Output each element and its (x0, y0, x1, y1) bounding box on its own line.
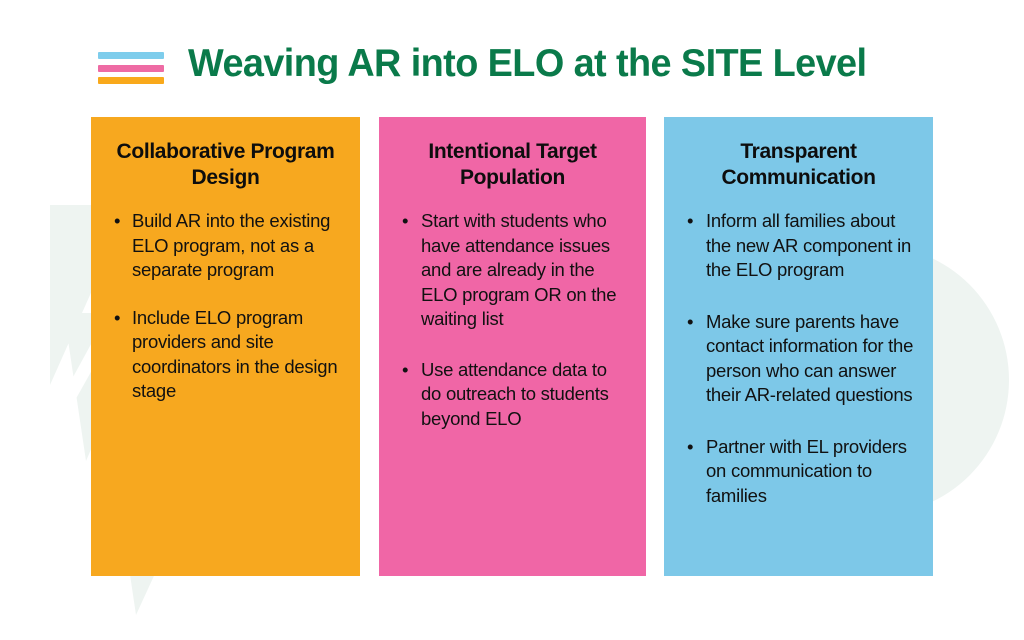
card-bullet-text: Inform all families about the new AR com… (706, 210, 911, 280)
cards-row: Collaborative Program Design •Build AR i… (0, 117, 1024, 576)
card-title: Collaborative Program Design (107, 139, 344, 191)
card-bullet-text: Make sure parents have contact informati… (706, 311, 913, 406)
bullet-icon: • (114, 209, 120, 234)
card-bullet-item: •Use attendance data to do outreach to s… (395, 358, 630, 432)
card-title: Transparent Communication (680, 139, 917, 191)
card-bullet-item: •Start with students who have attendance… (395, 209, 630, 332)
card-intentional-target-population: Intentional Target Population •Start wit… (379, 117, 646, 576)
three-bar-rule-icon (98, 52, 164, 84)
card-bullet-list: •Inform all families about the new AR co… (680, 209, 917, 508)
card-bullet-item: •Make sure parents have contact informat… (680, 310, 917, 408)
card-bullet-text: Use attendance data to do outreach to st… (421, 359, 609, 429)
page-title: Weaving AR into ELO at the SITE Level (188, 40, 866, 88)
rule-bar-orange (98, 77, 164, 84)
bullet-icon: • (402, 209, 408, 234)
rule-bar-blue (98, 52, 164, 59)
page-header: Weaving AR into ELO at the SITE Level (0, 0, 1024, 110)
rule-bar-pink (98, 65, 164, 72)
card-transparent-communication: Transparent Communication •Inform all fa… (664, 117, 933, 576)
bullet-icon: • (687, 310, 693, 335)
bullet-icon: • (402, 358, 408, 383)
card-bullet-text: Build AR into the existing ELO program, … (132, 210, 330, 280)
card-bullet-item: •Partner with EL providers on communicat… (680, 435, 917, 509)
card-bullet-item: •Build AR into the existing ELO program,… (107, 209, 344, 283)
card-bullet-list: •Start with students who have attendance… (395, 209, 630, 431)
card-collaborative-program-design: Collaborative Program Design •Build AR i… (91, 117, 360, 576)
card-bullet-item: •Inform all families about the new AR co… (680, 209, 917, 283)
card-bullet-item: •Include ELO program providers and site … (107, 306, 344, 404)
bullet-icon: • (687, 435, 693, 460)
card-bullet-text: Include ELO program providers and site c… (132, 307, 337, 402)
bullet-icon: • (687, 209, 693, 234)
card-bullet-list: •Build AR into the existing ELO program,… (107, 209, 344, 404)
bullet-icon: • (114, 306, 120, 331)
card-bullet-text: Partner with EL providers on communicati… (706, 436, 907, 506)
card-title: Intentional Target Population (395, 139, 630, 191)
card-bullet-text: Start with students who have attendance … (421, 210, 616, 329)
